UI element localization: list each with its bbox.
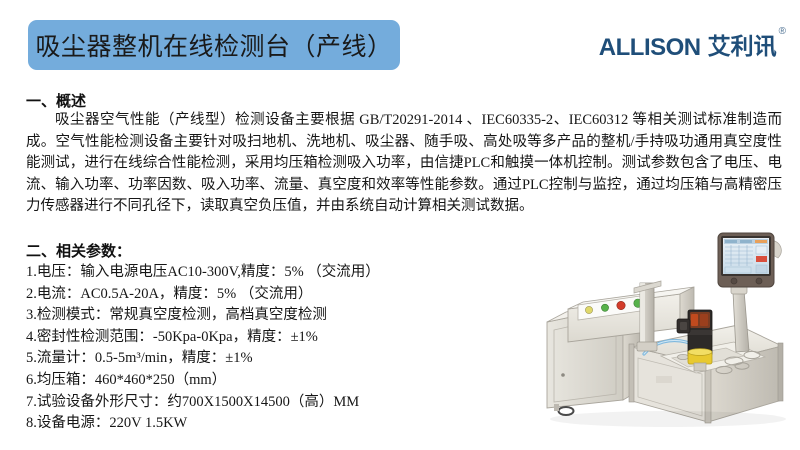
brand-logo: ALLISON 艾利讯 ®	[599, 36, 786, 60]
list-item: 7.试验设备外形尺寸：约700X1500X14500（高）MM	[26, 392, 546, 414]
slide-title-box: 吸尘器整机在线检测台（产线）	[28, 20, 400, 70]
list-item: 4.密封性检测范围：-50Kpa-0Kpa，精度：±1%	[26, 327, 546, 349]
parameters-list: 1.电压：输入电源电压AC10-300V,精度：5% （交流用） 2.电流：AC…	[26, 262, 546, 435]
list-item: 3.检测模式：常规真空度检测，高档真空度检测	[26, 305, 546, 327]
indicator-light-green-1	[601, 304, 608, 311]
list-item: 2.电流：AC0.5A-20A，精度：5% （交流用）	[26, 284, 546, 306]
parameters-heading: 二、相关参数：	[26, 240, 131, 261]
indicator-light-red	[617, 301, 625, 309]
list-item: 6.均压箱：460*460*250（mm）	[26, 370, 546, 392]
overview-paragraph: 吸尘器空气性能（产线型）检测设备主要根据 GB/T20291-2014 、IEC…	[26, 110, 782, 218]
logo-latin-text: ALLISON	[599, 36, 701, 60]
slide-root: 吸尘器整机在线检测台（产线） ALLISON 艾利讯 ® 一、概述 吸尘器空气性…	[0, 0, 800, 450]
indicator-panel-assembly	[568, 287, 694, 342]
list-item: 8.设备电源：220V 1.5KW	[26, 413, 546, 435]
list-item: 1.电压：输入电源电压AC10-300V,精度：5% （交流用）	[26, 262, 546, 284]
overview-heading: 一、概述	[26, 90, 86, 111]
logo-cjk-text: 艾利讯	[708, 36, 777, 59]
list-item: 5.流量计：0.5-5m³/min，精度：±1%	[26, 348, 546, 370]
machine-photo	[528, 224, 800, 430]
registered-trademark-icon: ®	[779, 27, 786, 37]
page-title: 吸尘器整机在线检测台（产线）	[35, 27, 392, 63]
indicator-light-yellow	[585, 306, 592, 313]
